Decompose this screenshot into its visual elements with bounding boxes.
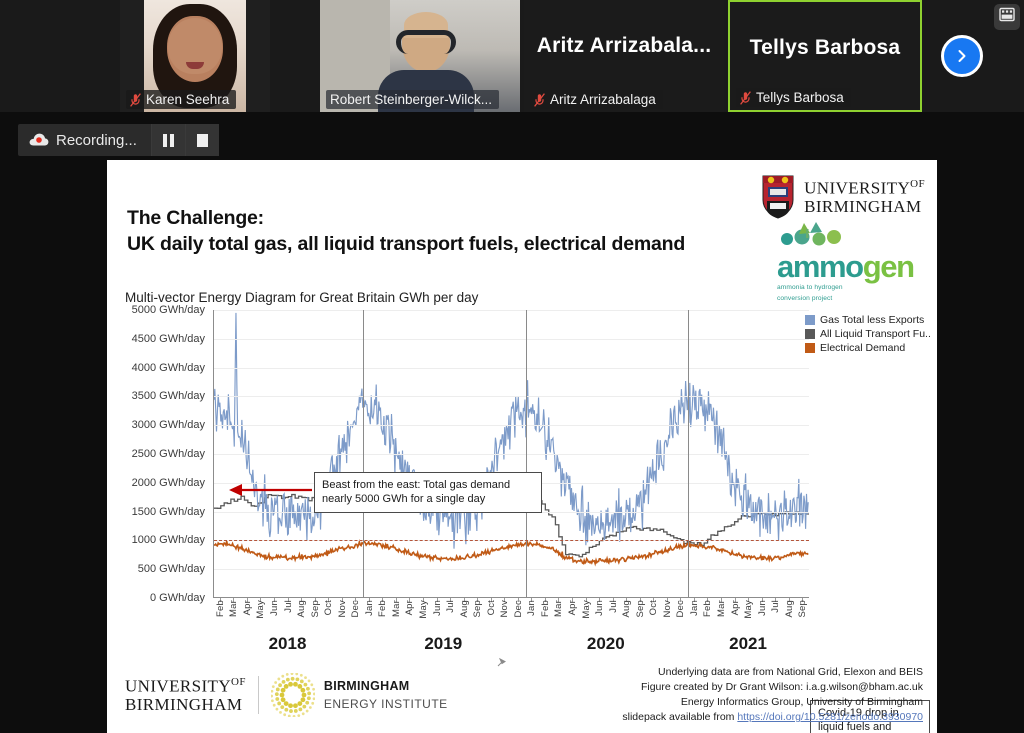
credits-line-2: Figure created by Dr Grant Wilson: i.a.g… bbox=[622, 680, 923, 695]
bei-wordmark: BIRMINGHAM ENERGY INSTITUTE bbox=[324, 677, 448, 712]
gridline bbox=[214, 310, 809, 311]
y-axis-tick: 500 GWh/day bbox=[138, 563, 205, 575]
x-axis-tick: Sep bbox=[797, 600, 808, 618]
participant-name-badge: Tellys Barbosa bbox=[736, 88, 851, 107]
x-axis-tick: Sep bbox=[310, 600, 321, 618]
recording-label: Recording... bbox=[56, 132, 151, 149]
y-axis-tick: 1500 GWh/day bbox=[132, 506, 205, 518]
slide-title: The Challenge: UK daily total gas, all l… bbox=[127, 206, 727, 258]
year-label: 2018 bbox=[269, 634, 307, 654]
x-axis-tick: May bbox=[581, 600, 592, 619]
birmingham-energy-institute-logo: BIRMINGHAM ENERGY INSTITUTE bbox=[271, 673, 448, 717]
y-axis-tick: 2500 GWh/day bbox=[132, 448, 205, 460]
slidepack-link[interactable]: https://doi.org/10.5281/zenodo.3930970 bbox=[737, 711, 923, 723]
legend-swatch-gas bbox=[805, 315, 815, 325]
sunburst-icon bbox=[271, 673, 315, 717]
credits-line-4: slidepack available from https://doi.org… bbox=[622, 710, 923, 725]
x-axis-tick: May bbox=[418, 600, 429, 619]
university-of-birmingham-logo: UNIVERSITYOF BIRMINGHAM bbox=[761, 174, 925, 220]
participant-display-name: Aritz Arrizabala... bbox=[524, 34, 724, 58]
chart-caption: Multi-vector Energy Diagram for Great Br… bbox=[125, 290, 478, 305]
x-axis-tick: Apr bbox=[242, 600, 253, 615]
x-axis-tick: Dec bbox=[350, 600, 361, 618]
slide-credits: Underlying data are from National Grid, … bbox=[622, 665, 923, 725]
year-label: 2019 bbox=[424, 634, 462, 654]
series-line bbox=[214, 541, 808, 563]
ammogen-mark-icon bbox=[777, 233, 863, 250]
legend-label: Gas Total less Exports bbox=[820, 314, 924, 326]
x-axis-tick: Oct bbox=[648, 600, 659, 615]
x-axis-tick: Jul bbox=[283, 600, 294, 613]
slide-pin-marker bbox=[497, 654, 507, 664]
x-axis-tick: Jul bbox=[445, 600, 456, 613]
uob-line1: UNIVERSITY bbox=[804, 178, 910, 197]
x-axis-tick: Jan bbox=[689, 600, 700, 616]
y-axis-tick: 5000 GWh/day bbox=[132, 304, 205, 316]
cloud-record-icon bbox=[28, 129, 50, 151]
x-axis-tick: Nov bbox=[662, 600, 673, 618]
participant-tile[interactable]: Robert Steinberger-Wilck... bbox=[320, 0, 520, 112]
credits-line-3: Energy Informatics Group, University of … bbox=[622, 695, 923, 710]
uob-wordmark: UNIVERSITYOF BIRMINGHAM bbox=[804, 178, 925, 217]
x-axis-tick: Apr bbox=[567, 600, 578, 615]
x-axis-tick: Jul bbox=[770, 600, 781, 613]
pause-icon bbox=[163, 134, 174, 147]
gridline bbox=[214, 368, 809, 369]
uob-footer-line2: BIRMINGHAM bbox=[125, 695, 242, 714]
legend-item: Electrical Demand bbox=[805, 342, 929, 354]
gridline bbox=[214, 339, 809, 340]
x-axis-tick: Aug bbox=[621, 600, 632, 618]
participant-name: Aritz Arrizabalaga bbox=[550, 92, 656, 107]
participant-filmstrip: Karen Seehra Robert Steinberger-Wilck...… bbox=[0, 0, 1024, 112]
grid-layout-icon bbox=[999, 7, 1015, 27]
x-axis-tick: Aug bbox=[296, 600, 307, 618]
participant-name-badge: Robert Steinberger-Wilck... bbox=[326, 90, 499, 109]
participant-tile[interactable]: Karen Seehra bbox=[120, 0, 270, 112]
pause-recording-button[interactable] bbox=[151, 124, 185, 156]
slide-title-line1: The Challenge: bbox=[127, 206, 727, 232]
x-axis-tick: Sep bbox=[635, 600, 646, 618]
x-axis-tick: Jun bbox=[594, 600, 605, 616]
energy-chart: 0 GWh/day500 GWh/day1000 GWh/day1500 GWh… bbox=[117, 310, 929, 660]
x-axis-tick: Mar bbox=[716, 600, 727, 617]
gridline bbox=[214, 396, 809, 397]
x-axis-tick: Apr bbox=[404, 600, 415, 615]
x-axis-tick: Sep bbox=[472, 600, 483, 618]
x-axis-tick: Oct bbox=[486, 600, 497, 615]
uob-line2: BIRMINGHAM bbox=[804, 197, 921, 216]
y-axis-tick: 2000 GWh/day bbox=[132, 477, 205, 489]
x-axis-tick: Nov bbox=[337, 600, 348, 618]
participant-name-badge: Karen Seehra bbox=[126, 90, 236, 109]
recording-bar: Recording... bbox=[18, 124, 219, 156]
stop-recording-button[interactable] bbox=[185, 124, 219, 156]
legend-swatch-electrical bbox=[805, 343, 815, 353]
bei-line2: ENERGY INSTITUTE bbox=[324, 697, 448, 711]
x-axis-tick: Mar bbox=[553, 600, 564, 617]
series-line bbox=[214, 313, 808, 549]
zoom-screen-share-window: Karen Seehra Robert Steinberger-Wilck...… bbox=[0, 0, 1024, 733]
participant-tile[interactable]: Aritz Arrizabala... Aritz Arrizabalaga bbox=[524, 0, 724, 112]
gridline bbox=[214, 569, 809, 570]
participant-name: Karen Seehra bbox=[146, 92, 229, 107]
y-axis-tick: 4000 GWh/day bbox=[132, 362, 205, 374]
x-axis-tick: Jun bbox=[269, 600, 280, 616]
x-axis-tick: Feb bbox=[215, 600, 226, 617]
slide-footer-logos: UNIVERSITYOF BIRMINGHAM BIRMINGHAM ENERG… bbox=[125, 673, 448, 717]
x-axis-tick: Aug bbox=[784, 600, 795, 618]
uob-footer-line1: UNIVERSITY bbox=[125, 676, 231, 695]
legend-item: Gas Total less Exports bbox=[805, 314, 929, 326]
x-axis-tick: Aug bbox=[459, 600, 470, 618]
year-divider bbox=[526, 310, 527, 597]
x-axis-tick: Jul bbox=[608, 600, 619, 613]
x-axis-tick: Jan bbox=[526, 600, 537, 616]
x-axis-tick: Apr bbox=[730, 600, 741, 615]
participant-display-name: Tellys Barbosa bbox=[730, 36, 920, 60]
y-axis-labels: 0 GWh/day500 GWh/day1000 GWh/day1500 GWh… bbox=[117, 310, 209, 598]
ammogen-tagline-1: ammonia to hydrogen bbox=[777, 283, 923, 293]
legend-item: All Liquid Transport Fu.. bbox=[805, 328, 929, 340]
y-axis-tick: 3500 GWh/day bbox=[132, 390, 205, 402]
x-axis-tick: May bbox=[255, 600, 266, 619]
muted-mic-icon bbox=[534, 93, 545, 107]
ammogen-logo: ammogen ammonia to hydrogen conversion p… bbox=[777, 220, 923, 303]
chevron-right-icon bbox=[954, 48, 970, 64]
participant-name: Robert Steinberger-Wilck... bbox=[330, 92, 492, 107]
ammogen-part2: gen bbox=[863, 249, 914, 284]
x-axis-tick: Oct bbox=[323, 600, 334, 615]
next-participants-button[interactable] bbox=[941, 35, 983, 77]
legend-swatch-liquid bbox=[805, 329, 815, 339]
ammogen-wordmark: ammogen bbox=[777, 251, 923, 282]
x-axis-tick: May bbox=[743, 600, 754, 619]
x-axis-tick: Feb bbox=[540, 600, 551, 617]
participant-name-badge: Aritz Arrizabalaga bbox=[530, 90, 663, 109]
year-label: 2021 bbox=[729, 634, 767, 654]
year-label: 2020 bbox=[587, 634, 625, 654]
x-axis-tick: Feb bbox=[377, 600, 388, 617]
participant-tile-active[interactable]: Tellys Barbosa Tellys Barbosa bbox=[728, 0, 922, 112]
uob-footer-sup: OF bbox=[231, 676, 246, 688]
y-axis-tick: 4500 GWh/day bbox=[132, 333, 205, 345]
x-axis-tick: Nov bbox=[499, 600, 510, 618]
x-axis-tick: Jun bbox=[757, 600, 768, 616]
participant-name: Tellys Barbosa bbox=[756, 90, 844, 105]
x-axis-tick: Feb bbox=[702, 600, 713, 617]
chart-plot-area bbox=[213, 310, 809, 598]
slide-title-line2: UK daily total gas, all liquid transport… bbox=[127, 232, 727, 258]
x-axis-tick: Dec bbox=[675, 600, 686, 618]
gridline bbox=[214, 454, 809, 455]
shared-slide: UNIVERSITYOF BIRMINGHAM ammogen ammonia … bbox=[107, 160, 937, 733]
ammogen-tagline-2: conversion project bbox=[777, 294, 923, 304]
x-axis-tick: Mar bbox=[391, 600, 402, 617]
x-axis-tick: Jan bbox=[364, 600, 375, 616]
reference-line bbox=[214, 540, 809, 541]
x-axis-tick: Dec bbox=[513, 600, 524, 618]
credits-prefix: slidepack available from bbox=[622, 711, 737, 723]
ammogen-part1: ammo bbox=[777, 249, 863, 284]
muted-mic-icon bbox=[740, 91, 751, 105]
x-axis-tick: Mar bbox=[228, 600, 239, 617]
callout-beast-from-the-east: Beast from the east: Total gas demand ne… bbox=[314, 472, 542, 513]
uob-crest-icon bbox=[761, 174, 795, 220]
y-axis-tick: 0 GWh/day bbox=[150, 592, 205, 604]
uob-footer-wordmark: UNIVERSITYOF BIRMINGHAM bbox=[125, 676, 246, 715]
bei-line1: BIRMINGHAM bbox=[324, 679, 410, 693]
legend-label: Electrical Demand bbox=[820, 342, 905, 354]
year-divider bbox=[688, 310, 689, 597]
chart-legend: Gas Total less Exports All Liquid Transp… bbox=[805, 314, 929, 356]
x-axis-tick: Jun bbox=[432, 600, 443, 616]
x-axis-labels: FebMarAprMayJunJulAugSepOctNovDecJanFebM… bbox=[213, 598, 809, 660]
muted-mic-icon bbox=[130, 93, 141, 107]
legend-label: All Liquid Transport Fu.. bbox=[820, 328, 931, 340]
y-axis-tick: 1000 GWh/day bbox=[132, 534, 205, 546]
gallery-view-button[interactable] bbox=[994, 4, 1020, 30]
uob-sup: OF bbox=[910, 178, 925, 190]
year-divider bbox=[363, 310, 364, 597]
footer-divider bbox=[258, 676, 259, 714]
stop-icon bbox=[197, 134, 208, 147]
gridline bbox=[214, 425, 809, 426]
credits-line-1: Underlying data are from National Grid, … bbox=[622, 665, 923, 680]
y-axis-tick: 3000 GWh/day bbox=[132, 419, 205, 431]
